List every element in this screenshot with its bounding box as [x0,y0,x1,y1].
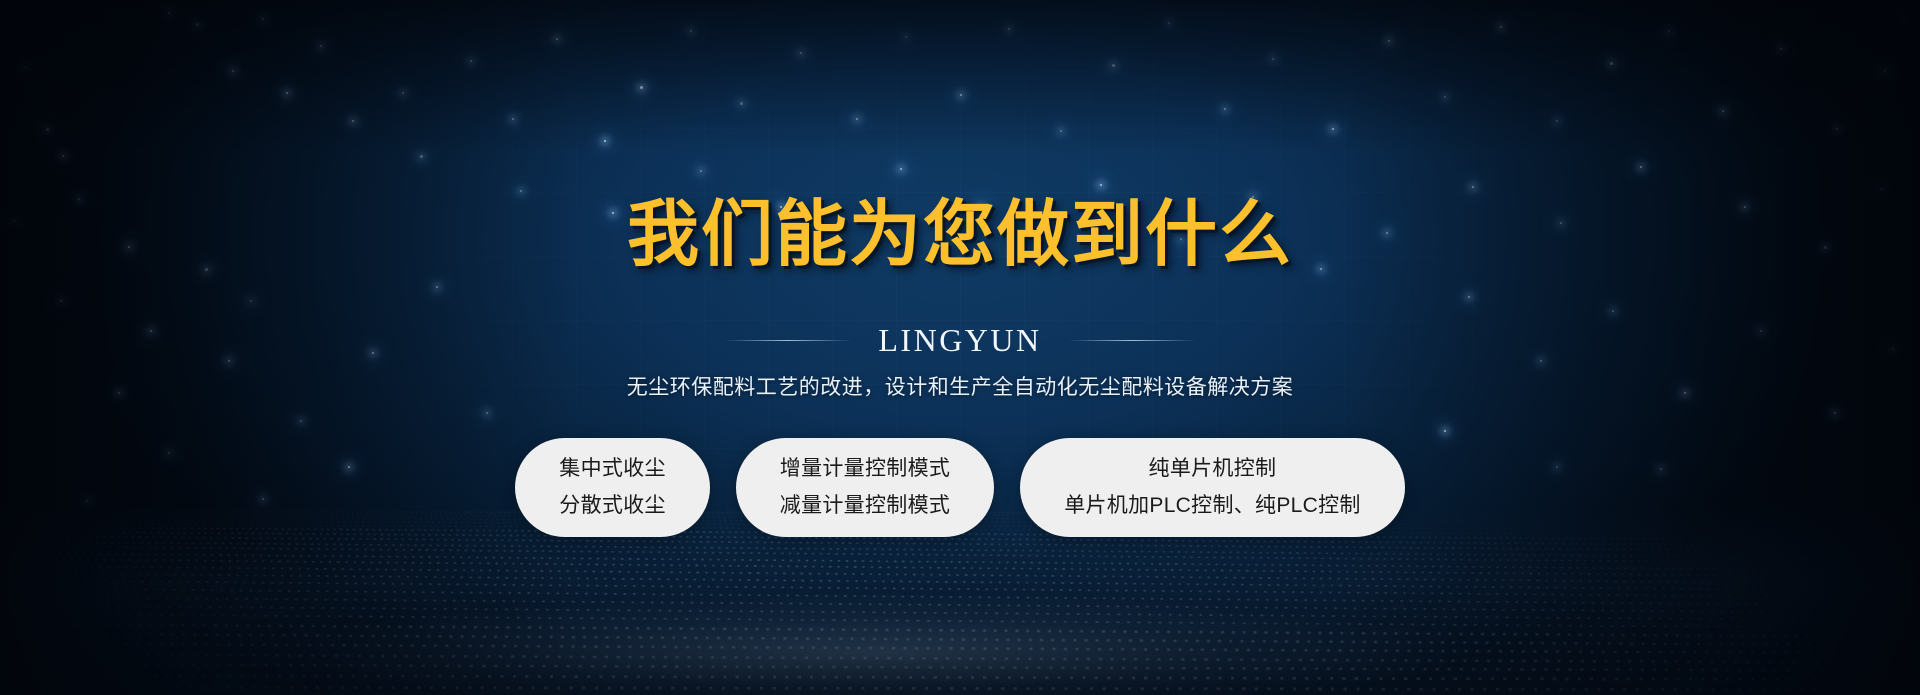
feature-card-line: 分散式收尘 [559,493,666,519]
feature-card-line: 纯单片机控制 [1149,456,1277,482]
feature-card[interactable]: 纯单片机控制 单片机加PLC控制、纯PLC控制 [1020,438,1405,537]
feature-card-line: 单片机加PLC控制、纯PLC控制 [1064,493,1361,519]
feature-card[interactable]: 集中式收尘 分散式收尘 [515,438,710,537]
feature-card-row: 集中式收尘 分散式收尘 增量计量控制模式 减量计量控制模式 纯单片机控制 单片机… [0,438,1920,537]
banner-headline: 我们能为您做到什么 [0,191,1920,277]
feature-card-line: 集中式收尘 [559,456,666,482]
hero-banner: 我们能为您做到什么 LINGYUN 无尘环保配料工艺的改进，设计和生产全自动化无… [0,0,1920,695]
divider-line-right [1068,340,1196,341]
banner-content: 我们能为您做到什么 LINGYUN 无尘环保配料工艺的改进，设计和生产全自动化无… [0,0,1920,695]
brand-name: LINGYUN [878,320,1041,360]
feature-card[interactable]: 增量计量控制模式 减量计量控制模式 [736,438,994,537]
feature-card-line: 增量计量控制模式 [780,456,950,482]
divider-line-left [724,340,852,341]
brand-divider-row: LINGYUN [0,320,1920,360]
feature-card-line: 减量计量控制模式 [780,493,950,519]
banner-subtitle: 无尘环保配料工艺的改进，设计和生产全自动化无尘配料设备解决方案 [0,373,1920,403]
